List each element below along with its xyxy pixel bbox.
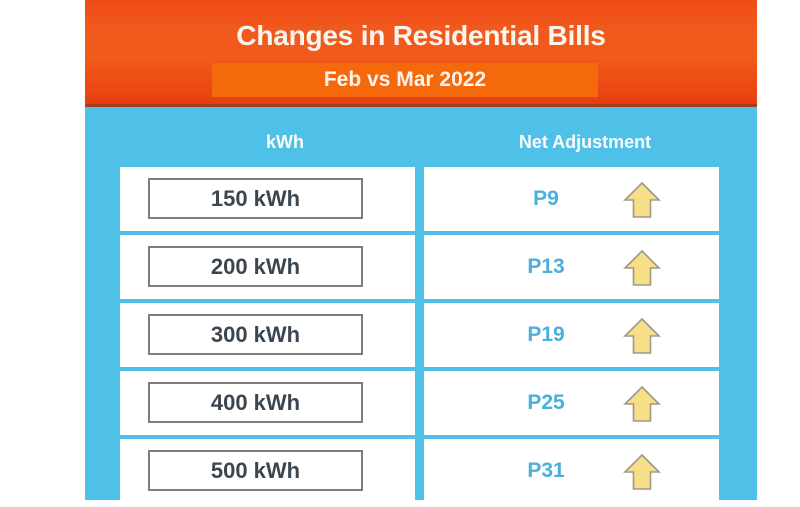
arrow-up-icon [622,248,662,288]
net-adjustment-value: P25 [486,371,606,435]
slide-canvas: Changes in Residential Bills Feb vs Mar … [0,0,800,500]
table-row: 500 kWh P31 [85,439,757,503]
cell-net-adjustment: P31 [424,439,719,503]
table-row: 400 kWh P25 [85,371,757,435]
net-adjustment-value: P9 [486,167,606,231]
cell-kwh: 400 kWh [120,371,415,435]
table-row: 300 kWh P19 [85,303,757,367]
kwh-value: 500 kWh [150,452,361,489]
table-row: 150 kWh P9 [85,167,757,231]
arrow-up-icon [622,452,662,492]
cell-kwh: 200 kWh [120,235,415,299]
kwh-value: 400 kWh [150,384,361,421]
cell-kwh: 300 kWh [120,303,415,367]
subtitle-highlight-box: Feb vs Mar 2022 [212,63,598,97]
arrow-up-icon [622,180,662,220]
cell-net-adjustment: P19 [424,303,719,367]
cell-net-adjustment: P13 [424,235,719,299]
arrow-up-icon [622,316,662,356]
net-adjustment-value: P13 [486,235,606,299]
column-header-kwh: kWh [120,132,450,153]
kwh-value-box: 150 kWh [148,178,363,219]
bills-table: 150 kWh P9 200 kWh [85,167,757,507]
cell-kwh: 150 kWh [120,167,415,231]
cell-kwh: 500 kWh [120,439,415,503]
header-banner: Changes in Residential Bills Feb vs Mar … [85,0,757,107]
kwh-value: 150 kWh [150,180,361,217]
page-subtitle: Feb vs Mar 2022 [212,63,598,97]
page-title: Changes in Residential Bills [85,20,757,52]
kwh-value-box: 400 kWh [148,382,363,423]
kwh-value-box: 200 kWh [148,246,363,287]
column-header-net-adjustment: Net Adjustment [420,132,750,153]
net-adjustment-value: P31 [486,439,606,503]
net-adjustment-value: P19 [486,303,606,367]
kwh-value-box: 500 kWh [148,450,363,491]
table-row: 200 kWh P13 [85,235,757,299]
table-column-headers: kWh Net Adjustment [85,107,757,167]
kwh-value: 200 kWh [150,248,361,285]
arrow-up-icon [622,384,662,424]
kwh-value: 300 kWh [150,316,361,353]
content-panel: Changes in Residential Bills Feb vs Mar … [85,0,757,500]
cell-net-adjustment: P9 [424,167,719,231]
cell-net-adjustment: P25 [424,371,719,435]
kwh-value-box: 300 kWh [148,314,363,355]
